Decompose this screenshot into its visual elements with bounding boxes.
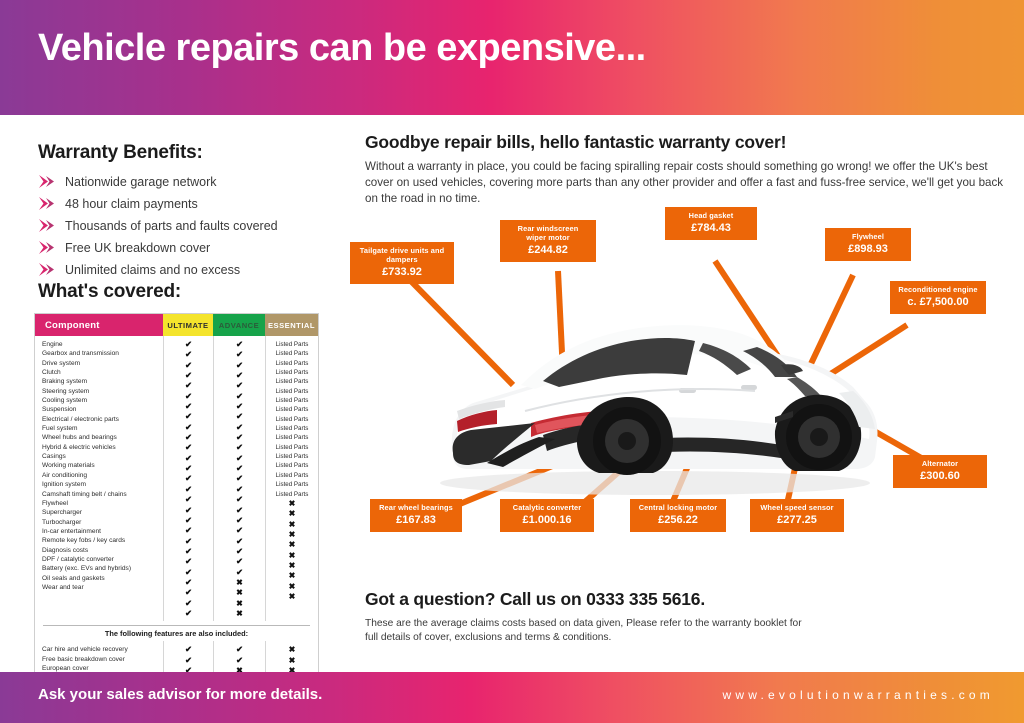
table-row: Electrical / electronic parts <box>42 415 163 424</box>
callout-label: Wheel speed sensor <box>758 503 836 512</box>
also-included-title: The following features are also included… <box>43 629 310 638</box>
table-row: Flywheel <box>42 499 163 508</box>
listed-parts-label: Listed Parts <box>266 387 318 396</box>
chevron-right-icon <box>38 241 56 254</box>
contact-cta: Got a question? Call us on 0333 335 5616… <box>365 589 705 610</box>
table-row: Steering system <box>42 387 163 396</box>
listed-parts-label: Listed Parts <box>266 471 318 480</box>
tick-icon: ✔ <box>164 609 213 619</box>
right-column: Goodbye repair bills, hello fantastic wa… <box>345 115 1024 672</box>
cross-icon: ✖ <box>214 599 265 609</box>
benefit-item: 48 hour claim payments <box>38 193 338 214</box>
price-callout: Central locking motor£256.22 <box>630 499 726 532</box>
benefit-label: Nationwide garage network <box>65 175 216 189</box>
cross-icon: ✖ <box>266 540 318 550</box>
table-row: Battery (exc. EVs and hybrids) <box>42 564 163 573</box>
cross-icon: ✖ <box>266 551 318 561</box>
callout-label: Tailgate drive units and dampers <box>358 246 446 264</box>
callout-label: Rear wheel bearings <box>378 503 454 512</box>
callout-label: Rear windscreen wiper motor <box>508 224 588 242</box>
column-header-advance: ADVANCE <box>213 314 265 336</box>
whats-covered-title: What's covered: <box>38 281 181 303</box>
table-row: Clutch <box>42 368 163 377</box>
tick-icon: ✔ <box>214 656 265 666</box>
left-column: Warranty Benefits: Nationwide garage net… <box>0 115 345 672</box>
footer-message: Ask your sales advisor for more details. <box>38 686 322 703</box>
coverage-advance-marks: ✔✔✔✔✔✔✔✔✔✔✔✔✔✔✔✔✔✔✔✔✔✔✔✖✖✖✖ <box>213 336 265 621</box>
table-row: Ignition system <box>42 480 163 489</box>
price-callout: Head gasket£784.43 <box>665 207 757 240</box>
callout-price: £244.82 <box>508 243 588 257</box>
disclaimer-text: These are the average claims costs based… <box>365 617 815 644</box>
listed-parts-label: Listed Parts <box>266 349 318 358</box>
listed-parts-label: Listed Parts <box>266 368 318 377</box>
page-header: Vehicle repairs can be expensive... <box>0 0 1024 115</box>
listed-parts-label: Listed Parts <box>266 443 318 452</box>
benefit-item: Unlimited claims and no excess <box>38 259 338 280</box>
cross-icon: ✖ <box>266 499 318 509</box>
benefit-item: Free UK breakdown cover <box>38 237 338 258</box>
callout-label: Catalytic converter <box>508 503 586 512</box>
right-heading: Goodbye repair bills, hello fantastic wa… <box>365 132 786 153</box>
listed-parts-label: Listed Parts <box>266 452 318 461</box>
cross-icon: ✖ <box>266 509 318 519</box>
table-row: DPF / catalytic converter <box>42 555 163 564</box>
table-row: Diagnosis costs <box>42 546 163 555</box>
cross-icon: ✖ <box>266 645 318 655</box>
listed-parts-label: Listed Parts <box>266 433 318 442</box>
cross-icon: ✖ <box>266 571 318 581</box>
warranty-benefits-list: Nationwide garage network48 hour claim p… <box>38 171 338 281</box>
table-row: Working materials <box>42 461 163 470</box>
chevron-right-icon <box>38 219 56 232</box>
table-row: Remote key fobs / key cards <box>42 536 163 545</box>
callout-price: £733.92 <box>358 265 446 279</box>
callout-price: £300.60 <box>901 469 979 483</box>
benefit-item: Thousands of parts and faults covered <box>38 215 338 236</box>
cross-icon: ✖ <box>214 609 265 619</box>
callout-price: £167.83 <box>378 513 454 527</box>
callout-price: £1.000.16 <box>508 513 586 527</box>
table-row: Casings <box>42 452 163 461</box>
table-row: Oil seals and gaskets <box>42 574 163 583</box>
callout-price: £256.22 <box>638 513 718 527</box>
table-row: Drive system <box>42 359 163 368</box>
table-row: Gearbox and transmission <box>42 349 163 358</box>
price-callout: Flywheel£898.93 <box>825 228 911 261</box>
listed-parts-label: Listed Parts <box>266 461 318 470</box>
coverage-table: Component ULTIMATE ADVANCE ESSENTIAL Eng… <box>34 313 319 690</box>
callout-price: £898.93 <box>833 242 903 256</box>
cross-icon: ✖ <box>266 520 318 530</box>
column-header-component: Component <box>35 314 163 336</box>
price-callout: Tailgate drive units and dampers£733.92 <box>350 242 454 284</box>
vehicle-diagram: Tailgate drive units and dampers£733.92R… <box>345 225 1024 585</box>
benefit-label: Thousands of parts and faults covered <box>65 219 278 233</box>
cross-icon: ✖ <box>214 578 265 588</box>
table-row: Engine <box>42 340 163 349</box>
table-row: Wheel hubs and bearings <box>42 433 163 442</box>
table-row: In-car entertainment <box>42 527 163 536</box>
tick-icon: ✔ <box>214 568 265 578</box>
page-title: Vehicle repairs can be expensive... <box>38 27 646 70</box>
listed-parts-label: Listed Parts <box>266 424 318 433</box>
callout-label: Alternator <box>901 459 979 468</box>
benefit-label: Unlimited claims and no excess <box>65 263 240 277</box>
table-row: Camshaft timing belt / chains <box>42 490 163 499</box>
page-footer: Ask your sales advisor for more details.… <box>0 672 1024 723</box>
listed-parts-label: Listed Parts <box>266 415 318 424</box>
warranty-benefits-title: Warranty Benefits: <box>38 142 203 164</box>
listed-parts-label: Listed Parts <box>266 340 318 349</box>
callout-label: Head gasket <box>673 211 749 220</box>
benefit-label: Free UK breakdown cover <box>65 241 210 255</box>
table-row: Supercharger <box>42 508 163 517</box>
benefit-item: Nationwide garage network <box>38 171 338 192</box>
benefit-label: 48 hour claim payments <box>65 197 198 211</box>
chevron-right-icon <box>38 175 56 188</box>
column-header-ultimate: ULTIMATE <box>163 314 213 336</box>
table-row: Hybrid & electric vehicles <box>42 443 163 452</box>
callout-price: £784.43 <box>673 221 749 235</box>
listed-parts-label: Listed Parts <box>266 490 318 499</box>
listed-parts-label: Listed Parts <box>266 405 318 414</box>
price-callout: Rear windscreen wiper motor£244.82 <box>500 220 596 262</box>
table-row: Cooling system <box>42 396 163 405</box>
price-callout: Catalytic converter£1.000.16 <box>500 499 594 532</box>
poster-page: Vehicle repairs can be expensive... Warr… <box>0 0 1024 723</box>
coverage-table-body: EngineGearbox and transmissionDrive syst… <box>35 336 318 621</box>
car-body-graphic <box>440 325 878 495</box>
listed-parts-label: Listed Parts <box>266 480 318 489</box>
listed-parts-label: Listed Parts <box>266 377 318 386</box>
coverage-ultimate-marks: ✔✔✔✔✔✔✔✔✔✔✔✔✔✔✔✔✔✔✔✔✔✔✔✔✔✔✔ <box>163 336 213 621</box>
cross-icon: ✖ <box>266 592 318 602</box>
cross-icon: ✖ <box>266 582 318 592</box>
table-row: Fuel system <box>42 424 163 433</box>
chevron-right-icon <box>38 197 56 210</box>
price-callout: Wheel speed sensor£277.25 <box>750 499 844 532</box>
table-row: Air conditioning <box>42 471 163 480</box>
chevron-right-icon <box>38 263 56 276</box>
table-row: Braking system <box>42 377 163 386</box>
cross-icon: ✖ <box>266 656 318 666</box>
callout-price: c. £7,500.00 <box>898 295 978 309</box>
cross-icon: ✖ <box>214 588 265 598</box>
callout-price: £277.25 <box>758 513 836 527</box>
coverage-essential-marks: Listed PartsListed PartsListed PartsList… <box>265 336 318 621</box>
cross-icon: ✖ <box>266 561 318 571</box>
table-row: Car hire and vehicle recovery <box>42 645 163 654</box>
coverage-component-names: EngineGearbox and transmissionDrive syst… <box>35 336 163 621</box>
price-callout: Reconditioned enginec. £7,500.00 <box>890 281 986 314</box>
table-row: Wear and tear <box>42 583 163 592</box>
right-paragraph: Without a warranty in place, you could b… <box>365 159 1005 207</box>
column-header-essential: ESSENTIAL <box>265 314 318 336</box>
table-row: Suspension <box>42 405 163 414</box>
cross-icon: ✖ <box>266 530 318 540</box>
listed-parts-label: Listed Parts <box>266 396 318 405</box>
coverage-table-header: Component ULTIMATE ADVANCE ESSENTIAL <box>35 314 318 336</box>
callout-label: Reconditioned engine <box>898 285 978 294</box>
table-row: Turbocharger <box>42 518 163 527</box>
listed-parts-label: Listed Parts <box>266 359 318 368</box>
callout-label: Central locking motor <box>638 503 718 512</box>
footer-website-url[interactable]: www.evolutionwarranties.com <box>723 688 994 702</box>
table-row: Free basic breakdown cover <box>42 655 163 664</box>
price-callout: Alternator£300.60 <box>893 455 987 488</box>
callout-label: Flywheel <box>833 232 903 241</box>
price-callout: Rear wheel bearings£167.83 <box>370 499 462 532</box>
